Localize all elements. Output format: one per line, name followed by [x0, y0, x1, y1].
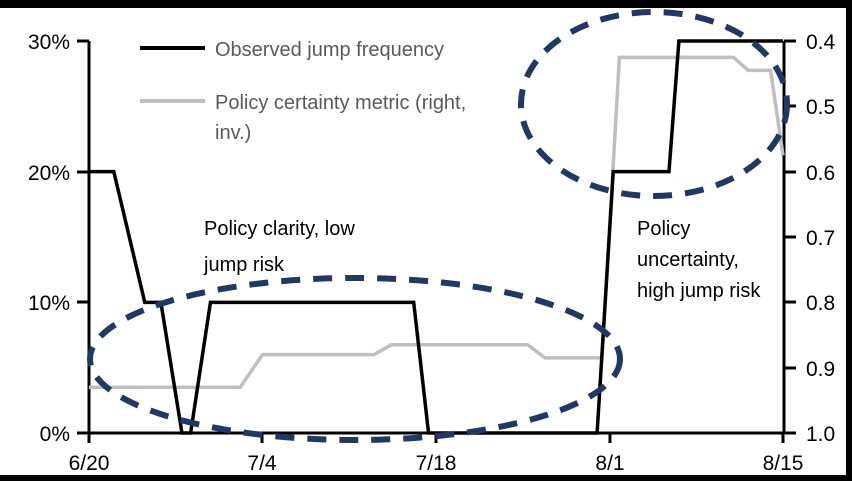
- legend-label-certainty-line1: Policy certainty metric (right,: [215, 92, 466, 114]
- y-tick-label-20: 20%: [28, 162, 70, 185]
- legend: Observed jump frequency Policy certainty…: [140, 39, 466, 144]
- legend-label-observed: Observed jump frequency: [215, 39, 444, 61]
- y2-tick-label-0-7: 0.7: [806, 227, 835, 250]
- x-tick-label-3: 8/1: [595, 452, 624, 475]
- x-tick-label-2: 7/18: [416, 452, 457, 475]
- y2-tick-label-1-0: 1.0: [806, 423, 835, 446]
- policy-uncertainty-annotation-line-2: uncertainty,: [637, 249, 739, 271]
- legend-label-certainty-line2: inv.): [215, 122, 251, 144]
- chart-canvas: 30% 20% 10% 0% 0.4 0.5 0.6 0.7 0.8 0.9 1…: [0, 0, 852, 481]
- policy-uncertainty-annotation: Policy uncertainty, high jump risk: [637, 218, 761, 302]
- x-tick-label-4: 8/15: [763, 452, 804, 475]
- y2-tick-label-0-9: 0.9: [806, 358, 835, 381]
- x-tick-label-1: 7/4: [247, 452, 277, 475]
- policy-clarity-annotation: Policy clarity, low jump risk: [203, 218, 355, 276]
- y-tick-label-0: 0%: [40, 423, 70, 446]
- policy-clarity-annotation-line-2: jump risk: [203, 254, 285, 276]
- left-axis: [77, 41, 89, 433]
- y2-tick-label-0-4: 0.4: [806, 31, 836, 54]
- policy-clarity-annotation-line-1: Policy clarity, low: [204, 218, 355, 240]
- y-tick-label-10: 10%: [28, 292, 70, 315]
- chart-svg: 30% 20% 10% 0% 0.4 0.5 0.6 0.7 0.8 0.9 1…: [0, 0, 852, 481]
- y-tick-label-30: 30%: [28, 31, 70, 54]
- policy-uncertainty-annotation-line-1: Policy: [637, 218, 690, 240]
- y2-tick-label-0-6: 0.6: [806, 162, 835, 185]
- policy-uncertainty-annotation-line-3: high jump risk: [637, 280, 761, 302]
- y2-tick-label-0-8: 0.8: [806, 292, 835, 315]
- x-tick-label-0: 6/20: [69, 452, 110, 475]
- y2-tick-label-0-5: 0.5: [806, 96, 835, 119]
